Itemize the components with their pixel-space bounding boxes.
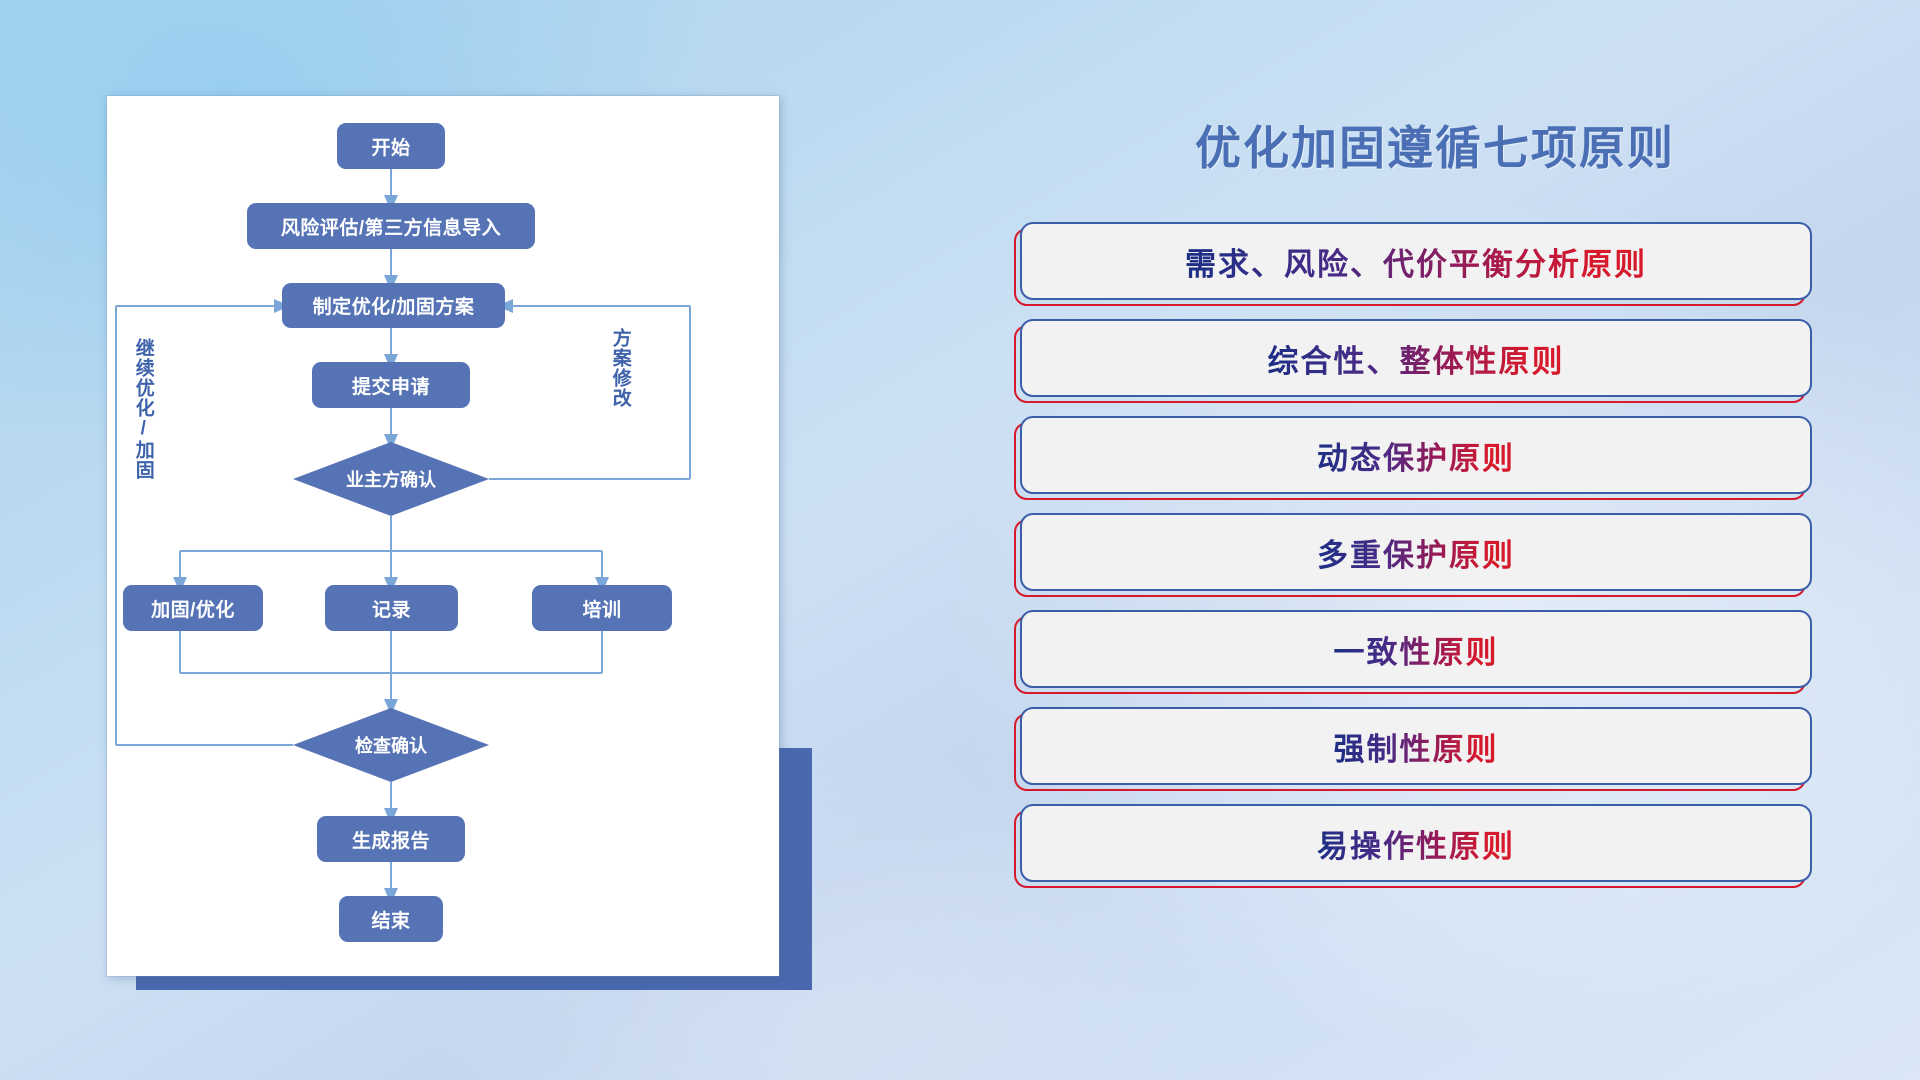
principle-card-label: 综合性、整体性原则 — [1268, 336, 1565, 381]
flow-decision-owner-confirm[interactable]: 业主方确认 — [293, 442, 489, 516]
principle-card-5[interactable]: 一致性原则 — [1020, 610, 1850, 688]
principle-card-label: 需求、风险、代价平衡分析原则 — [1185, 239, 1647, 284]
principle-card-label: 易操作性原则 — [1317, 821, 1515, 866]
principle-card-face: 易操作性原则 — [1020, 804, 1812, 882]
principle-card-face: 多重保护原则 — [1020, 513, 1812, 591]
flow-node-plan[interactable]: 制定优化/加固方案 — [282, 283, 505, 328]
principle-card-4[interactable]: 多重保护原则 — [1020, 513, 1850, 591]
principle-card-2[interactable]: 综合性、整体性原则 — [1020, 319, 1850, 397]
flowchart-card: 继续优化/加固 方案修改 开始 风险评估/第三方信息导入 制定优化/加固方案 提… — [107, 96, 779, 976]
principle-card-face: 动态保护原则 — [1020, 416, 1812, 494]
principle-card-label: 多重保护原则 — [1317, 530, 1515, 575]
principles-title: 优化加固遵循七项原则 — [1020, 112, 1850, 178]
principle-card-6[interactable]: 强制性原则 — [1020, 707, 1850, 785]
flow-node-end[interactable]: 结束 — [339, 896, 443, 942]
principles-pane: 优化加固遵循七项原则 需求、风险、代价平衡分析原则 综合性、整体性原则 动态保护… — [1020, 96, 1850, 996]
loop-label-left: 继续优化/加固 — [133, 338, 153, 480]
principle-card-face: 综合性、整体性原则 — [1020, 319, 1812, 397]
flow-node-report[interactable]: 生成报告 — [317, 816, 465, 862]
principle-card-7[interactable]: 易操作性原则 — [1020, 804, 1850, 882]
principle-card-face: 强制性原则 — [1020, 707, 1812, 785]
flow-node-training[interactable]: 培训 — [532, 585, 672, 631]
principle-card-face: 需求、风险、代价平衡分析原则 — [1020, 222, 1812, 300]
slide-canvas: 继续优化/加固 方案修改 开始 风险评估/第三方信息导入 制定优化/加固方案 提… — [0, 0, 1920, 1080]
principle-card-face: 一致性原则 — [1020, 610, 1812, 688]
flow-node-risk-assessment[interactable]: 风险评估/第三方信息导入 — [247, 203, 535, 249]
flow-node-reinforce[interactable]: 加固/优化 — [123, 585, 263, 631]
principle-card-3[interactable]: 动态保护原则 — [1020, 416, 1850, 494]
flow-decision-inspection[interactable]: 检查确认 — [293, 708, 489, 782]
principle-card-label: 动态保护原则 — [1317, 433, 1515, 478]
loop-label-right: 方案修改 — [610, 328, 630, 408]
flow-decision-owner-confirm-label: 业主方确认 — [346, 466, 436, 492]
principle-card-label: 一致性原则 — [1334, 627, 1499, 672]
principle-card-1[interactable]: 需求、风险、代价平衡分析原则 — [1020, 222, 1850, 300]
flow-node-record[interactable]: 记录 — [325, 585, 458, 631]
flow-decision-inspection-label: 检查确认 — [355, 732, 427, 758]
principle-card-label: 强制性原则 — [1334, 724, 1499, 769]
flow-node-submit[interactable]: 提交申请 — [312, 362, 470, 408]
flow-node-start[interactable]: 开始 — [337, 123, 445, 169]
principles-card-list: 需求、风险、代价平衡分析原则 综合性、整体性原则 动态保护原则 多重保护原则 — [1020, 222, 1850, 882]
